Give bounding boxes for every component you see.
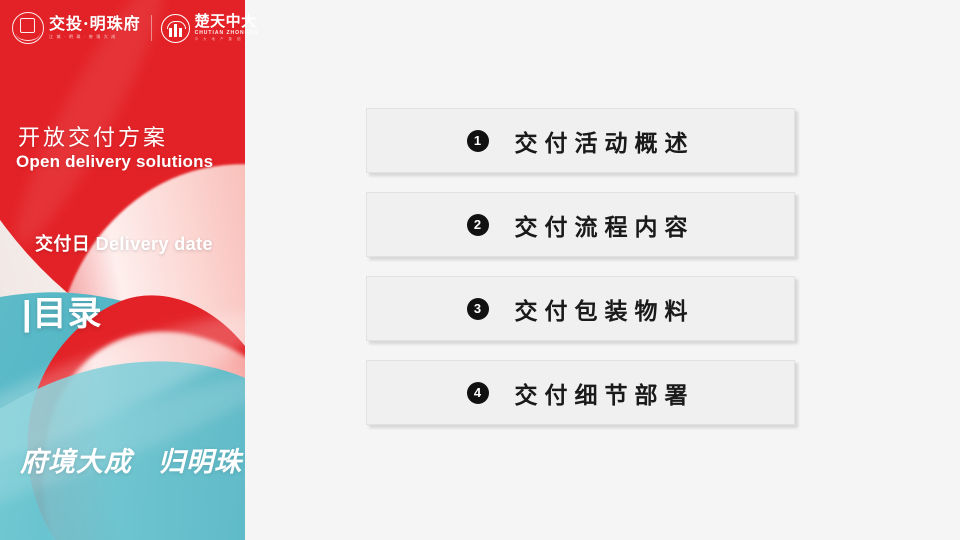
toc-item-2[interactable]: 2 交付流程内容 (366, 192, 795, 257)
calligraphy-slogan: 府境大成 归明珠 (20, 440, 242, 479)
secondary-logo-tagline: 中 大 地 产 集 团 (195, 37, 259, 42)
page-title: |目录 (22, 286, 103, 335)
crescent-seal-emblem-icon (12, 12, 44, 44)
toc-item-3[interactable]: 3 交付包装物料 (366, 276, 795, 341)
logo-divider (151, 15, 152, 41)
calligraphy-phrase-1: 府境大成 (20, 440, 132, 479)
delivery-date-label: 交付日 Delivery date (35, 230, 213, 256)
sidebar-headline-en: Open delivery solutions (16, 152, 213, 172)
primary-logo-name: 交投·明珠府 (49, 16, 141, 33)
secondary-logo-name: 楚天中大 (195, 14, 259, 30)
gate-building-emblem-icon (161, 14, 190, 43)
primary-logo: 交投·明珠府 江 城 · 明 珠 · 府 境 大 成 (12, 12, 141, 44)
toc-item-label: 交付细节部署 (515, 376, 695, 410)
calligraphy-phrase-2: 归明珠 (158, 440, 242, 479)
logo-bar: 交投·明珠府 江 城 · 明 珠 · 府 境 大 成 楚天中大 CHUTIAN … (0, 0, 245, 56)
toc-item-4[interactable]: 4 交付细节部署 (366, 360, 795, 425)
sidebar-headline-cn: 开放交付方案 (18, 120, 168, 152)
secondary-logo-name-en: CHUTIAN ZHONGDA (195, 30, 259, 36)
toc-list: 1 交付活动概述 2 交付流程内容 3 交付包装物料 4 交付细节部署 (366, 108, 795, 444)
toc-item-label: 交付活动概述 (515, 124, 695, 158)
toc-item-label: 交付流程内容 (515, 208, 695, 242)
slide-canvas: 交投·明珠府 江 城 · 明 珠 · 府 境 大 成 楚天中大 CHUTIAN … (0, 0, 960, 540)
toc-item-1[interactable]: 1 交付活动概述 (366, 108, 795, 173)
primary-logo-tagline: 江 城 · 明 珠 · 府 境 大 成 (49, 34, 141, 40)
toc-number-badge: 2 (467, 214, 489, 236)
toc-item-label: 交付包装物料 (515, 292, 695, 326)
secondary-logo: 楚天中大 CHUTIAN ZHONGDA 中 大 地 产 集 团 (161, 14, 259, 43)
toc-number-badge: 4 (467, 382, 489, 404)
toc-number-badge: 3 (467, 298, 489, 320)
toc-number-badge: 1 (467, 130, 489, 152)
